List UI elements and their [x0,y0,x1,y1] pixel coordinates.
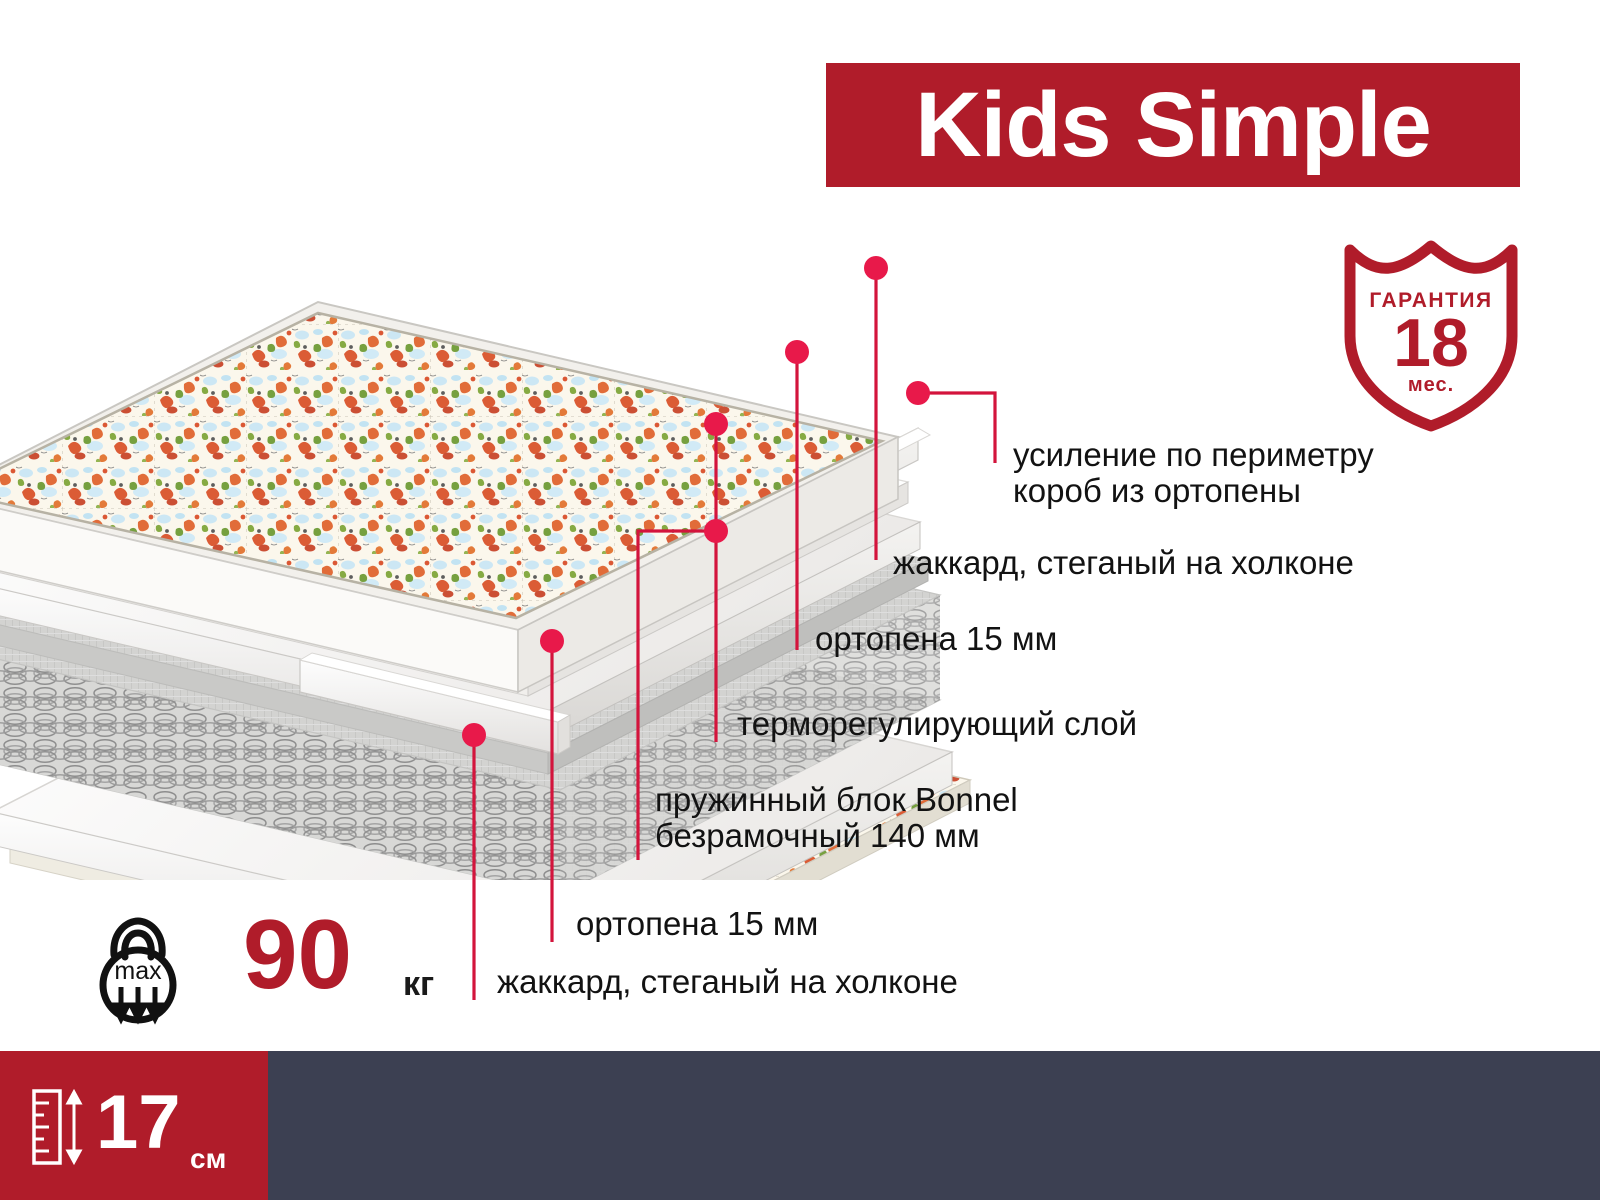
callout-label-perimeter: усиление по периметру короб из ортопены [1013,437,1374,510]
callout-label-jacquard-bottom: жаккард, стеганый на холконе [497,963,958,1001]
mattress-exploded-illustration [0,140,980,880]
callout-label-thermo: терморегулирующий слой [737,705,1137,743]
guarantee-badge: ГАРАНТИЯ 18 мес. [1336,232,1526,432]
height-unit: см [190,1143,226,1175]
infographic-canvas: Kids Simple ГАРАНТИЯ 18 мес. усиление по… [0,0,1600,1200]
max-weight-block: max 90 кг [78,915,458,1025]
callout-label-ortofoam-bottom: ортопена 15 мм [576,905,818,943]
callout-label-ortofoam-top: ортопена 15 мм [815,620,1057,658]
callout-label-jacquard-top: жаккард, стеганый на холконе [893,544,1354,582]
kettlebell-icon: max [78,915,198,1025]
height-value: 17 [96,1085,181,1161]
max-weight-unit: кг [403,965,434,1004]
shield-icon [1336,232,1526,432]
max-weight-value: 90 [243,905,352,1003]
bottom-spec-bar: 17 см мягкий жесткий [0,1051,1600,1200]
svg-text:max: max [114,957,162,985]
product-title-banner: Kids Simple [826,63,1520,187]
callout-label-bonnel: пружинный блок Bonnel безрамочный 140 мм [655,782,1018,855]
ruler-icon [32,1089,88,1165]
page-title: Kids Simple [915,79,1431,171]
height-block: 17 см [0,1051,268,1200]
